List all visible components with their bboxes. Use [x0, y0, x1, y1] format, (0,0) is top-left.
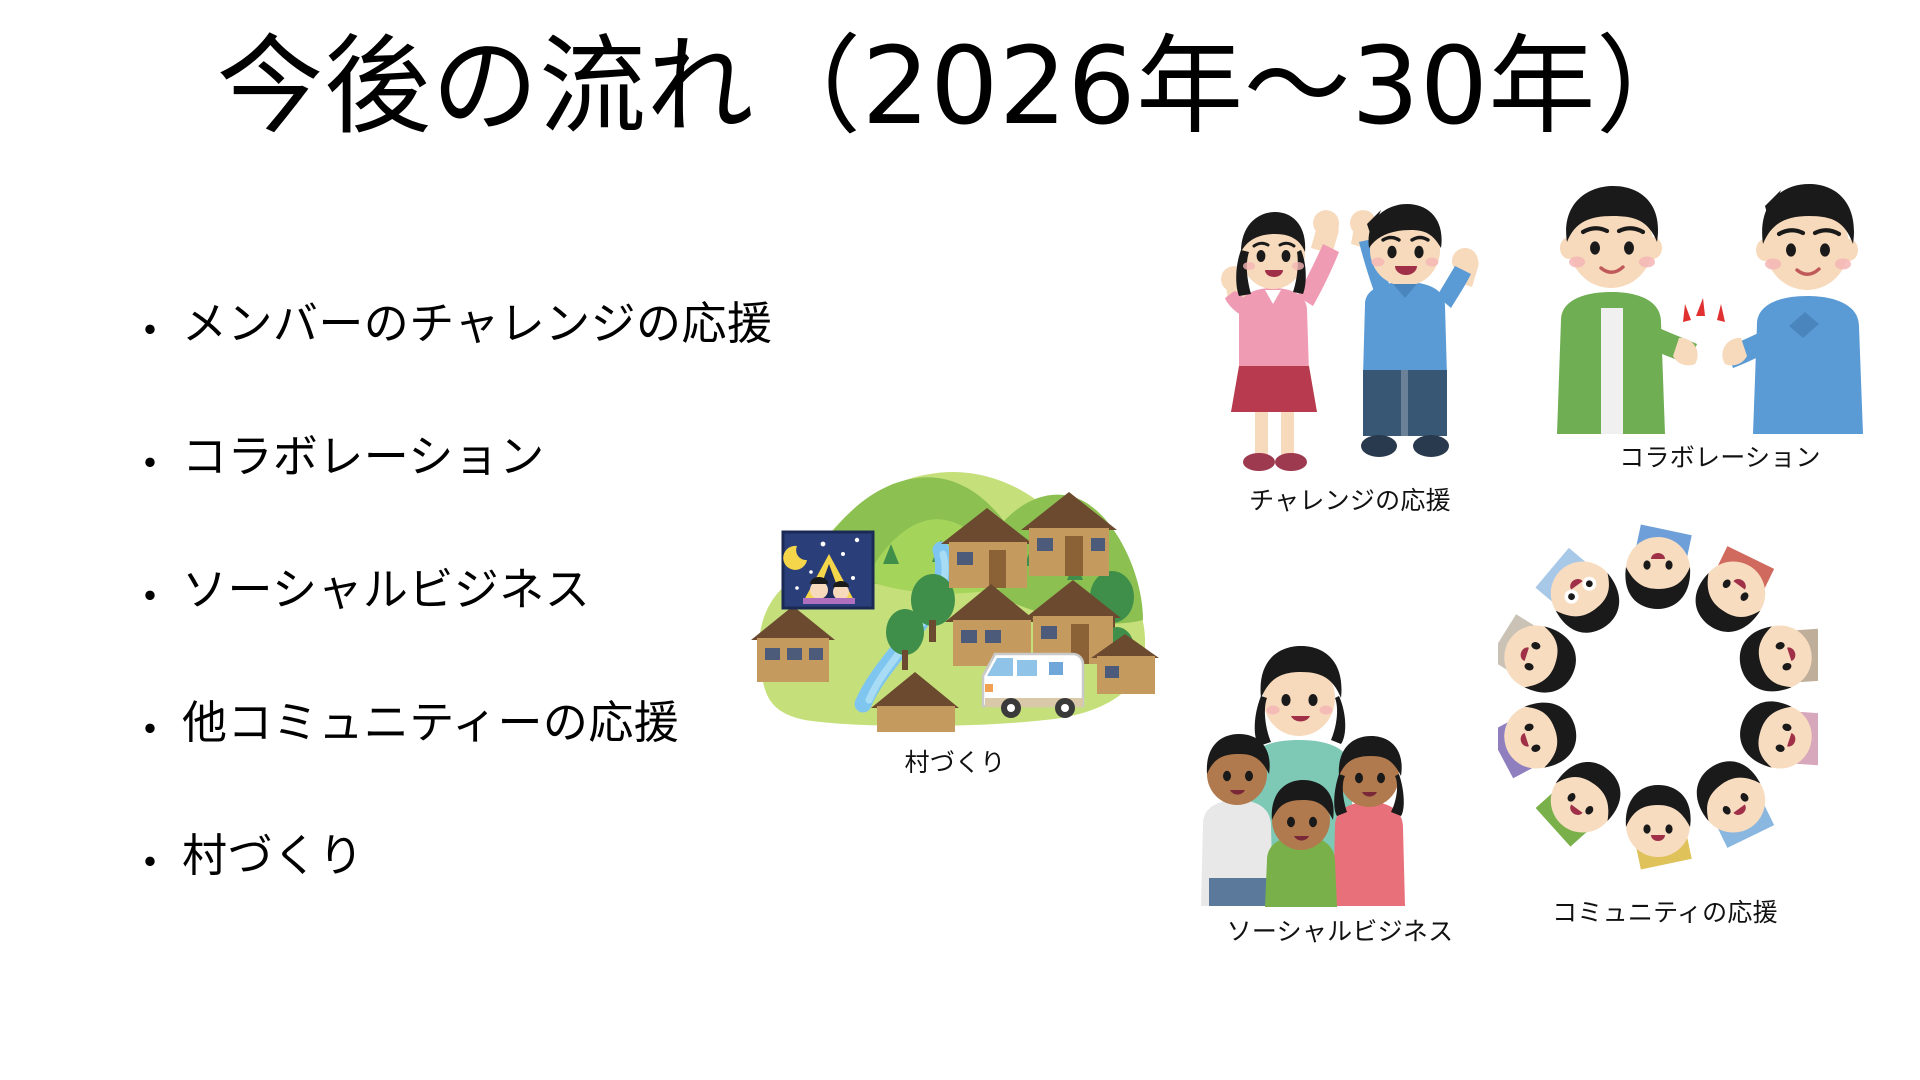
bullet-marker-icon: ・: [128, 433, 182, 487]
bullet-text: 他コミュニティーの応援: [182, 699, 679, 746]
bullet-marker-icon: ・: [128, 566, 182, 620]
impact-marks-icon: [1683, 298, 1725, 322]
bullet-marker-icon: ・: [128, 300, 182, 354]
community-caption: コミュニティの応援: [1470, 898, 1860, 928]
bullet-marker-icon: ・: [128, 699, 182, 753]
bullet-text: ソーシャルビジネス: [182, 566, 590, 613]
challenge-illustration: [1205, 200, 1495, 482]
community-circle-illustration: [1498, 512, 1818, 887]
slide-canvas: 今後の流れ（2026年〜30年） ・ メンバーのチャレンジの応援 ・ コラボレー…: [0, 0, 1920, 1080]
bullet-text: コラボレーション: [182, 433, 545, 480]
bullet-marker-icon: ・: [128, 832, 182, 886]
bullet-text: 村づくり: [182, 832, 364, 879]
list-item: ・ 村づくり: [128, 832, 888, 965]
social-business-illustration: [1195, 642, 1410, 907]
list-item: ・ メンバーのチャレンジの応援: [128, 300, 888, 433]
collaboration-caption: コラボレーション: [1520, 443, 1920, 473]
page-title: 今後の流れ（2026年〜30年）: [0, 24, 1920, 150]
village-caption: 村づくり: [745, 748, 1165, 778]
village-illustration: [745, 432, 1165, 742]
bullet-text: メンバーのチャレンジの応援: [182, 300, 772, 347]
collaboration-illustration: [1545, 182, 1875, 434]
challenge-caption: チャレンジの応援: [1160, 486, 1540, 516]
